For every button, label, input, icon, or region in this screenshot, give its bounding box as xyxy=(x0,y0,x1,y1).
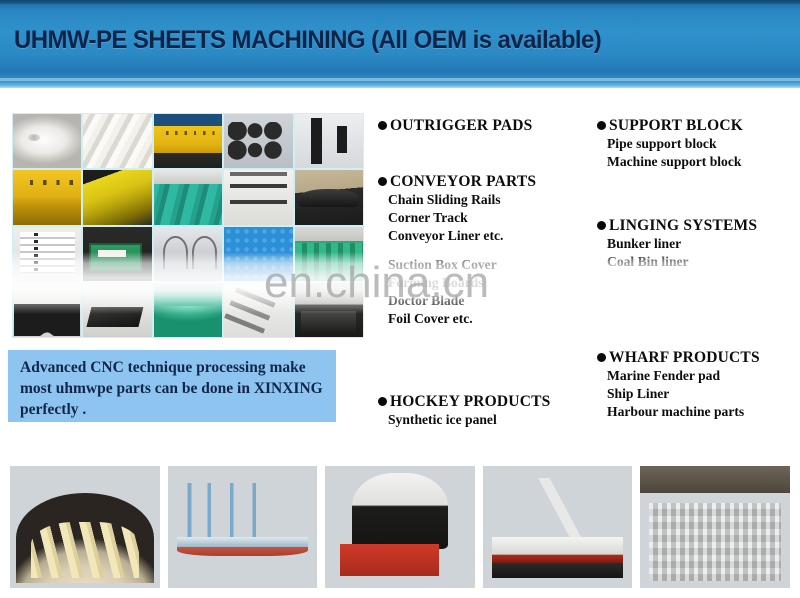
product-thumbnail xyxy=(154,170,222,224)
category-item: Harbour machine parts xyxy=(597,403,760,421)
bullet-dot-icon xyxy=(597,121,606,130)
application-photo xyxy=(640,466,790,588)
product-thumbnail xyxy=(224,114,292,168)
application-photo xyxy=(325,466,475,588)
category-item: Synthetic ice panel xyxy=(378,411,550,429)
product-thumbnail xyxy=(224,227,292,281)
product-thumbnail xyxy=(83,283,151,337)
application-photo xyxy=(10,466,160,588)
product-thumbnail xyxy=(13,114,81,168)
bullet-dot-icon xyxy=(378,177,387,186)
category-item: Machine support block xyxy=(597,153,743,171)
category-heading-label: LINGING SYSTEMS xyxy=(609,216,757,235)
category-item: Doctor Blade xyxy=(378,292,497,310)
category-group-paper-machine-parts: Suction Box Cover Forming Boards Doctor … xyxy=(378,256,497,328)
category-item: Coal Bin liner xyxy=(597,253,757,271)
category-item: Suction Box Cover xyxy=(378,256,497,274)
category-group-support-block: SUPPORT BLOCK Pipe support block Machine… xyxy=(597,116,743,171)
product-thumbnail xyxy=(13,283,81,337)
category-heading: SUPPORT BLOCK xyxy=(597,116,743,135)
category-group-linging-systems: LINGING SYSTEMS Bunker liner Coal Bin li… xyxy=(597,216,757,271)
category-item: Ship Liner xyxy=(597,385,760,403)
bullet-dot-icon xyxy=(378,397,387,406)
product-thumbnail xyxy=(295,227,363,281)
category-heading-label: SUPPORT BLOCK xyxy=(609,116,743,135)
category-heading-label: OUTRIGGER PADS xyxy=(390,116,532,135)
product-thumbnail xyxy=(154,283,222,337)
category-group-wharf-products: WHARF PRODUCTS Marine Fender pad Ship Li… xyxy=(597,348,760,421)
category-heading-label: HOCKEY PRODUCTS xyxy=(390,392,550,411)
category-heading-label: CONVEYOR PARTS xyxy=(390,172,536,191)
category-heading: WHARF PRODUCTS xyxy=(597,348,760,367)
category-heading-label: WHARF PRODUCTS xyxy=(609,348,760,367)
bullet-dot-icon xyxy=(597,221,606,230)
product-thumbnail xyxy=(224,283,292,337)
product-thumbnail xyxy=(13,170,81,224)
cnc-capability-callout: Advanced CNC technique processing make m… xyxy=(8,350,336,422)
page-header-banner: UHMW-PE SHEETS MACHINING (All OEM is ava… xyxy=(0,0,800,88)
category-item: Foil Cover etc. xyxy=(378,310,497,328)
category-item: Pipe support block xyxy=(597,135,743,153)
product-thumbnail xyxy=(295,114,363,168)
category-item: Bunker liner xyxy=(597,235,757,253)
category-group-hockey-products: HOCKEY PRODUCTS Synthetic ice panel xyxy=(378,392,550,429)
bullet-dot-icon xyxy=(597,353,606,362)
product-thumbnail xyxy=(13,227,81,281)
product-thumbnail xyxy=(295,283,363,337)
header-top-accent-line xyxy=(0,0,800,4)
category-heading: HOCKEY PRODUCTS xyxy=(378,392,550,411)
product-thumbnail xyxy=(154,114,222,168)
category-item: Corner Track xyxy=(378,209,536,227)
product-thumbnail xyxy=(83,227,151,281)
application-photo xyxy=(483,466,633,588)
application-photo-strip xyxy=(10,466,790,588)
product-thumbnail xyxy=(83,170,151,224)
product-image-grid xyxy=(12,113,364,338)
product-thumbnail xyxy=(295,170,363,224)
category-group-conveyor-parts: CONVEYOR PARTS Chain Sliding Rails Corne… xyxy=(378,172,536,245)
category-item: Marine Fender pad xyxy=(597,367,760,385)
category-group-outrigger-pads: OUTRIGGER PADS xyxy=(378,116,532,135)
category-heading: CONVEYOR PARTS xyxy=(378,172,536,191)
category-heading: LINGING SYSTEMS xyxy=(597,216,757,235)
product-thumbnail xyxy=(154,227,222,281)
product-thumbnail xyxy=(224,170,292,224)
application-photo xyxy=(168,466,318,588)
page-title: UHMW-PE SHEETS MACHINING (All OEM is ava… xyxy=(14,26,601,55)
cnc-capability-text: Advanced CNC technique processing make m… xyxy=(20,357,330,420)
category-item: Conveyor Liner etc. xyxy=(378,227,536,245)
category-item: Chain Sliding Rails xyxy=(378,191,536,209)
category-item: Forming Boards xyxy=(378,274,497,292)
category-heading: OUTRIGGER PADS xyxy=(378,116,532,135)
bullet-dot-icon xyxy=(378,121,387,130)
product-thumbnail xyxy=(83,114,151,168)
header-gloss-line xyxy=(0,78,800,81)
